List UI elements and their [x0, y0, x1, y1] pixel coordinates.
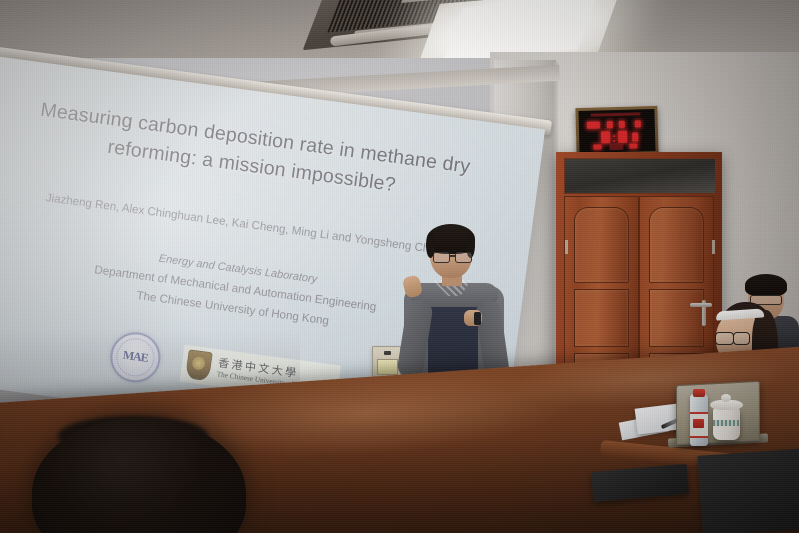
clock-temperature: [593, 144, 601, 149]
clock-date-day: [619, 121, 625, 128]
led-wall-clock: [575, 106, 658, 156]
clock-weekday: [635, 120, 641, 127]
speaker-glasses-bridge: [449, 255, 456, 257]
tea-cup-lid-knob[interactable]: [721, 394, 731, 402]
door-panel-arched: [574, 207, 629, 283]
clock-date-month: [607, 121, 613, 128]
clock-colon: [613, 140, 615, 142]
clock-date-year: [587, 121, 600, 128]
conference-room-photo: Measuring carbon deposition rate in meth…: [0, 0, 799, 533]
door-panel-middle: [574, 289, 629, 347]
speaker-glasses-icon: [433, 252, 450, 263]
clock-humidity: [629, 143, 637, 148]
speaker-glasses-icon: [455, 252, 472, 263]
door-panel-arched: [649, 207, 704, 283]
door-hinge: [565, 240, 568, 254]
clock-colon: [613, 135, 615, 137]
panel-switch-slot[interactable]: [377, 359, 398, 375]
clock-second-digits: [632, 132, 638, 141]
water-bottle-label: [690, 412, 708, 438]
clock-minute-digits: [618, 131, 627, 143]
presentation-clicker[interactable]: [474, 312, 481, 325]
clock-display: [578, 109, 655, 153]
clock-header-text: [591, 112, 641, 116]
black-notebook[interactable]: [697, 448, 799, 533]
door-hinge: [712, 240, 715, 254]
water-bottle-cap[interactable]: [693, 389, 705, 397]
woman-glasses-icon: [715, 332, 734, 345]
door-transom-window: [564, 158, 716, 194]
tea-cup-pattern: [713, 420, 740, 426]
woman-glasses-icon: [733, 332, 750, 345]
clock-hour-digits: [601, 131, 610, 143]
clock-logo-block: [609, 143, 623, 150]
panel-indicator-icon: [384, 351, 391, 355]
man-hair: [745, 274, 787, 296]
